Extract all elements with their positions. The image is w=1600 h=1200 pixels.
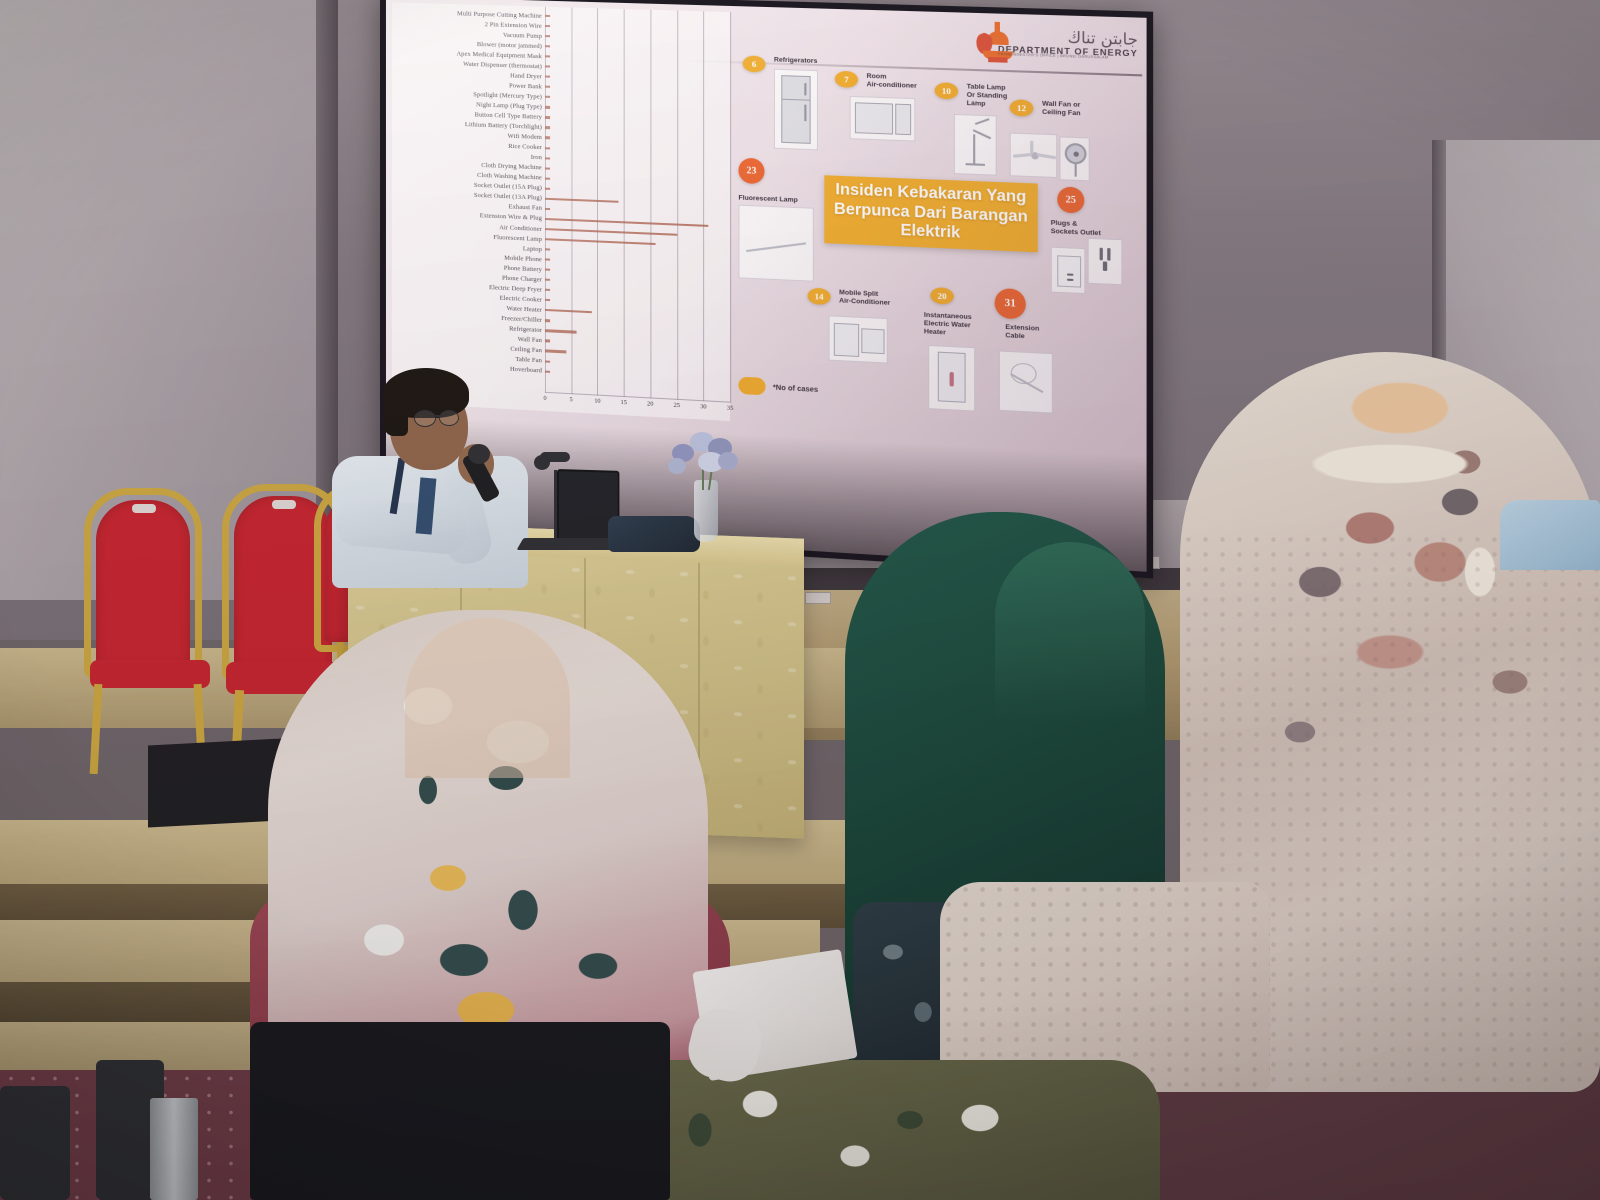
- microphone-icon: [468, 444, 490, 464]
- chart-gridline: [703, 11, 704, 401]
- chart-category-label: 2 Pin Extension Wire: [485, 21, 542, 30]
- socket-outlet-icon: [1051, 247, 1086, 294]
- badge-plugs-sockets: 25: [1057, 186, 1084, 213]
- refrigerator-icon: [774, 69, 818, 151]
- bag-icon: [608, 516, 700, 552]
- label-refrigerators: Refrigerators: [774, 56, 817, 66]
- badge-mobile-split-ac: 14: [807, 288, 830, 306]
- chart-plot-area: 05101520253035: [545, 7, 730, 421]
- chart-category-label: Freezer/Chiller: [501, 315, 542, 324]
- chart-gridline: [597, 8, 598, 395]
- chart-x-tick-label: 20: [647, 400, 653, 407]
- label-wall-or-ceiling-fan: Wall Fan or Ceiling Fan: [1042, 100, 1081, 119]
- badge-wall-or-ceiling-fan: 12: [1010, 99, 1034, 116]
- chart-category-label: Exhaust Fan: [509, 204, 542, 212]
- label-mobile-split-ac: Mobile Split Air-Conditioner: [839, 289, 890, 308]
- chart-x-tick-label: 35: [727, 405, 733, 413]
- chart-category-label: Vacuum Pump: [503, 31, 542, 39]
- label-fluorescent-lamp: Fluorescent Lamp: [738, 194, 797, 205]
- chart-x-tick-label: 10: [594, 397, 600, 404]
- presenter: [322, 360, 582, 590]
- audience-patterned-tudung: [940, 352, 1600, 1092]
- chart-category-label: Electric Cooker: [500, 294, 542, 303]
- wall-socket: [805, 592, 831, 604]
- badge-extension-cable: 31: [995, 288, 1026, 320]
- fan-icon: [1010, 133, 1058, 179]
- badge-table-lamp: 10: [935, 82, 959, 99]
- blue-chair-back[interactable]: [1500, 500, 1600, 570]
- chart-x-tick-label: 15: [621, 399, 627, 406]
- badge-fluorescent-lamp: 23: [738, 158, 764, 185]
- chart-category-label: Rice Cooker: [508, 143, 542, 151]
- legend-label: *No of cases: [773, 382, 818, 394]
- chart-x-tick-label: 30: [700, 403, 706, 410]
- chart-x-tick-label: 25: [674, 402, 680, 409]
- chart-category-label: Laptop: [523, 245, 542, 253]
- chart-category-label: Hand Dryer: [510, 72, 542, 80]
- audience-chair-front[interactable]: [250, 1022, 670, 1200]
- label-plugs-sockets: Plugs & Sockets Outlet: [1051, 220, 1101, 239]
- chart-category-label: Air Conditioner: [499, 224, 542, 233]
- chart-gridline: [650, 10, 651, 399]
- badge-refrigerators: 6: [743, 55, 766, 72]
- split-ac-icon: [829, 315, 888, 363]
- chart-gridline: [730, 12, 731, 403]
- chart-category-label: Wall Fan: [518, 336, 542, 344]
- badge-room-air-conditioner: 7: [835, 71, 858, 88]
- chart-category-axis: Multi Purpose Cutting Machine2 Pin Exten…: [392, 2, 545, 411]
- conference-room-scene: جابتن تناڬ DEPARTMENT OF ENERGY PRIME MI…: [0, 0, 1600, 1200]
- chart-category-label: Fluorescent Lamp: [493, 233, 542, 242]
- window-ac-icon: [850, 96, 916, 142]
- table-lamp-icon: [954, 114, 997, 176]
- bar-chart: Multi Purpose Cutting Machine2 Pin Exten…: [392, 2, 730, 421]
- chart-category-label: Refrigerator: [509, 325, 542, 334]
- chart-gridline: [677, 11, 678, 400]
- chart-gridline: [571, 8, 572, 395]
- banner-line-3: Elektrik: [900, 222, 960, 244]
- label-room-air-conditioner: Room Air-conditioner: [867, 73, 917, 92]
- chart-legend: *No of cases: [738, 377, 818, 399]
- badge-water-heater: 20: [930, 287, 954, 305]
- slide-banner: Insiden Kebakaran Yang Berpunca Dari Bar…: [824, 175, 1037, 252]
- label-water-heater: Instantaneous Electric Water Heater: [924, 312, 972, 340]
- chart-category-label: Blower (motor jammed): [477, 41, 542, 50]
- banquet-chair[interactable]: [80, 488, 230, 738]
- chart-gridline: [624, 9, 625, 397]
- chart-category-label: Mobile Phone: [504, 254, 542, 263]
- chart-gridline: [545, 7, 546, 393]
- chair-armrest[interactable]: [0, 1086, 70, 1200]
- chart-bar: [545, 350, 566, 353]
- chart-category-label: Phone Charger: [502, 274, 542, 283]
- legend-pill-icon: [738, 377, 765, 396]
- chart-category-label: Ceiling Fan: [510, 346, 542, 355]
- wall-fan-icon: [1059, 136, 1089, 181]
- chart-category-label: Wifi Modem: [508, 133, 542, 141]
- label-extension-cable: Extension Cable: [1005, 324, 1039, 343]
- chart-bar: [545, 309, 592, 313]
- chair-post: [150, 1098, 198, 1200]
- chart-category-label: Power Bank: [509, 82, 542, 90]
- plug-icon: [1088, 238, 1123, 286]
- label-table-lamp: Table Lamp Or Standing Lamp: [967, 83, 1008, 110]
- chart-category-label: Phone Battery: [504, 264, 542, 273]
- chart-bar: [545, 198, 619, 203]
- fluorescent-lamp-icon: [738, 205, 813, 282]
- chart-category-label: Water Heater: [507, 305, 542, 314]
- chart-category-label: Iron: [531, 154, 542, 162]
